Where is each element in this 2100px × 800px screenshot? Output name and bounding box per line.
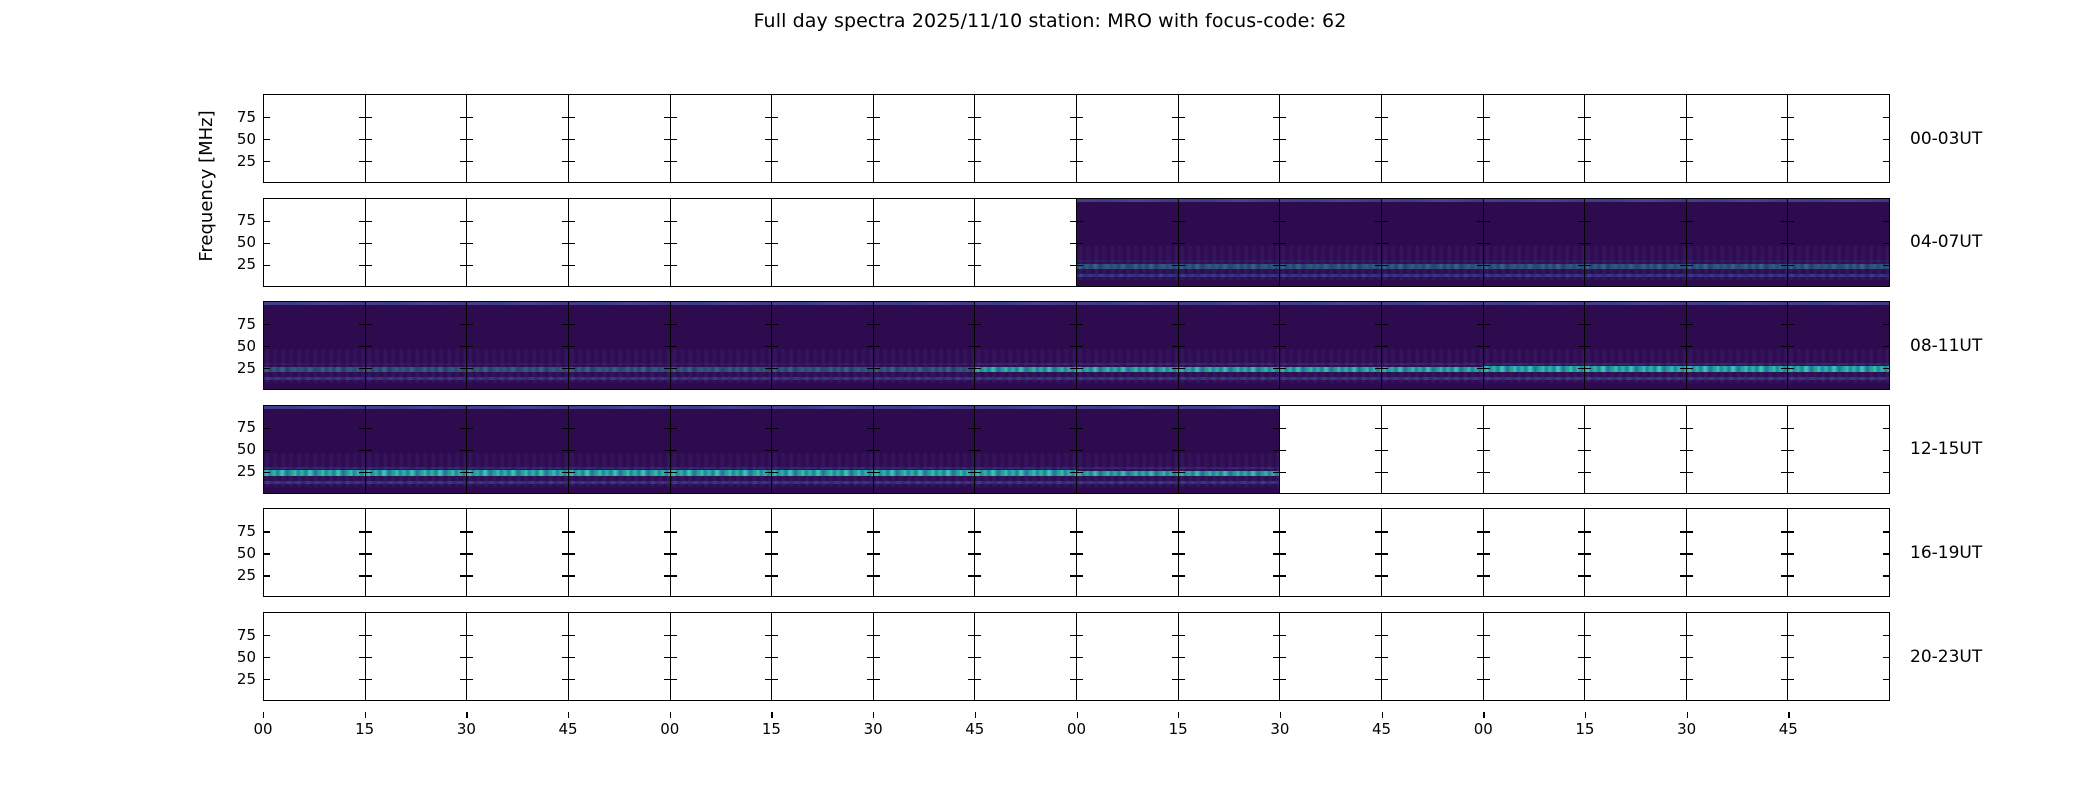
spectrogram-panel[interactable] [1381,612,1483,701]
y-tick-mark [1578,221,1584,222]
y-tick-mark [359,324,365,325]
spectrogram-panel[interactable] [873,612,975,701]
spectral-streak [1788,264,1889,269]
y-tick-mark [1382,635,1388,636]
y-tick-mark [1172,531,1178,532]
y-tick-mark [1788,553,1794,554]
y-tick-mark [1585,139,1591,140]
spectrogram-panel[interactable] [974,405,1076,494]
spectrogram-panel[interactable] [1178,508,1280,597]
spectral-streak [264,481,365,484]
spectral-streak [1788,366,1889,372]
spectral-streak [772,377,873,380]
spectrogram-panel[interactable] [771,508,873,597]
spectrogram-panel[interactable] [670,94,772,183]
y-tick-mark [1375,450,1381,451]
y-tick-mark [562,368,568,369]
spectrogram-panel[interactable] [1686,301,1788,390]
y-tick-mark [562,324,568,325]
spectral-streak [1179,481,1280,484]
y-tick-mark [1788,161,1794,162]
y-tick-mark [1781,575,1787,576]
y-tick-mark [562,575,568,576]
spectrogram-panel[interactable] [466,198,568,287]
spectral-streak [874,367,975,372]
spectral-streak [772,481,873,484]
y-tick-mark [867,265,873,266]
y-tick-mark [264,472,270,473]
spectrogram-panel[interactable] [466,405,568,494]
row-label-00-03: 00-03UT [1910,129,1982,149]
spectrogram-panel[interactable] [1483,508,1585,597]
spectrogram-panel[interactable] [873,198,975,287]
spectral-streak [264,363,365,365]
y-tick-mark [1382,679,1388,680]
y-tick-mark [467,450,473,451]
y-tick-mark [1578,553,1584,554]
y-tick-mark [1585,368,1591,369]
spectrogram-panel[interactable] [1584,198,1686,287]
spectral-streak [1280,264,1381,269]
y-tick-mark [359,117,365,118]
spectral-streak [772,470,873,476]
spectral-streak [1382,367,1483,372]
spectrogram-panel[interactable] [974,94,1076,183]
spectrogram-panel[interactable] [771,301,873,390]
spectrogram-panel[interactable] [568,198,670,287]
y-tick-mark [968,346,974,347]
spectrogram-panel[interactable] [263,405,365,494]
y-tick-mark [772,221,778,222]
spectrogram-panel[interactable] [466,94,568,183]
y-tick-mark [1687,428,1693,429]
spectral-streak [1280,367,1381,372]
y-tick-mark [569,243,575,244]
y-tick-mark [1477,472,1483,473]
spectrogram-panel[interactable] [670,301,772,390]
spectral-streak [1585,366,1686,372]
spectrogram-panel[interactable] [1787,612,1890,701]
spectrogram-panel[interactable] [1584,612,1686,701]
y-tick-mark [772,553,778,554]
x-tick-label: 00 [660,720,679,738]
y-tick-mark [1578,346,1584,347]
y-tick-mark [975,368,981,369]
spectrogram-panel[interactable] [1076,94,1178,183]
spectrogram-panel[interactable] [670,405,772,494]
y-tick-mark [460,346,466,347]
spectrogram-panel[interactable] [1787,405,1890,494]
spectrogram-panel[interactable] [1381,301,1483,390]
y-tick-mark [765,635,771,636]
spectrogram-panel[interactable] [1686,94,1788,183]
spectral-streak [671,377,772,380]
y-tick-mark [467,575,473,576]
y-tick-mark [569,553,575,554]
y-tick-mark [664,117,670,118]
y-tick-mark [1172,221,1178,222]
y-tick-mark [1680,472,1686,473]
spectrogram-panel[interactable] [1483,405,1585,494]
y-tick-mark [1484,324,1490,325]
y-tick-mark [874,139,880,140]
y-tick-mark [1382,368,1388,369]
y-tick-mark [975,243,981,244]
spectrogram-panel[interactable] [771,94,873,183]
y-tick-mark [1477,679,1483,680]
y-tick-mark [772,635,778,636]
spectrogram-panel[interactable] [466,301,568,390]
spectrogram-panel[interactable] [1279,94,1381,183]
y-tick-label: 25 [237,359,256,377]
spectral-streak [1077,363,1178,365]
spectrogram-panel[interactable] [1381,94,1483,183]
y-tick-mark [1070,575,1076,576]
y-tick-mark [460,117,466,118]
spectral-streak [1484,264,1585,269]
y-tick-label: 75 [237,108,256,126]
spectral-streak [569,481,670,484]
y-tick-mark [569,635,575,636]
y-tick-mark [968,428,974,429]
y-tick-mark [1077,635,1083,636]
y-tick-mark [1883,679,1889,680]
spectrogram-panel[interactable] [568,405,670,494]
spectrogram-panel[interactable] [1381,508,1483,597]
y-tick-mark [1578,472,1584,473]
y-tick-mark [664,324,670,325]
spectrogram-panel[interactable] [1178,301,1280,390]
y-tick-mark [467,635,473,636]
spectrogram-panel[interactable] [365,94,467,183]
spectrogram-panel[interactable] [568,508,670,597]
spectrogram-panel[interactable] [670,508,772,597]
row-label-20-23: 20-23UT [1910,647,1982,667]
y-tick-mark [1477,161,1483,162]
y-tick-label: 75 [237,211,256,229]
spectrogram-panel[interactable] [466,508,568,597]
spectrogram-panel[interactable] [1178,612,1280,701]
y-tick-mark [1781,221,1787,222]
y-tick-mark [366,428,372,429]
y-tick-mark [264,161,270,162]
y-tick-mark [772,450,778,451]
y-tick-mark [874,221,880,222]
y-tick-mark [975,117,981,118]
y-tick-mark [874,635,880,636]
y-tick-mark [975,531,981,532]
spectral-streak [467,363,568,365]
y-tick-mark [1585,324,1591,325]
spectrogram-panel[interactable] [365,405,467,494]
y-tick-mark [1280,161,1286,162]
spectrogram-panel[interactable] [1787,508,1890,597]
spectral-streak [1382,363,1483,365]
y-tick-mark [1179,635,1185,636]
spectrogram-panel[interactable] [263,94,365,183]
spectral-streak [264,377,365,380]
spectrogram-panel[interactable] [1584,94,1686,183]
y-tick-mark [968,161,974,162]
spectral-streak [1179,367,1280,372]
y-tick-mark [664,221,670,222]
spectrogram-panel[interactable] [1076,301,1178,390]
spectrogram-panel[interactable] [1584,301,1686,390]
y-tick-mark [1273,531,1279,532]
y-tick-mark [1179,657,1185,658]
y-tick-mark [1680,346,1686,347]
spectral-streak [1788,363,1889,365]
y-tick-mark [671,117,677,118]
spectrogram-panel[interactable] [1178,94,1280,183]
spectrogram-panel[interactable] [1787,198,1890,287]
spectrogram-panel[interactable] [1178,405,1280,494]
spectrogram-panel[interactable] [263,301,365,390]
spectrogram-panel[interactable] [1584,405,1686,494]
spectrogram-panel[interactable] [466,612,568,701]
y-tick-mark [1375,657,1381,658]
spectrogram-row-12-15 [263,405,1890,494]
y-tick-mark [1375,635,1381,636]
y-tick-mark [1578,161,1584,162]
y-tick-mark [1781,265,1787,266]
y-tick-mark [1781,324,1787,325]
y-tick-mark [867,368,873,369]
spectrogram-panel[interactable] [974,612,1076,701]
y-tick-mark [772,472,778,473]
y-tick-mark [975,265,981,266]
spectrogram-panel[interactable] [1686,612,1788,701]
y-tick-mark [467,221,473,222]
spectrogram-panel[interactable] [771,405,873,494]
y-tick-mark [562,635,568,636]
spectrogram-panel[interactable] [568,612,670,701]
spectral-streak [975,481,1076,484]
spectrogram-panel[interactable] [1279,198,1381,287]
spectrogram-panel[interactable] [1076,612,1178,701]
y-tick-mark [460,221,466,222]
y-tick-mark [671,657,677,658]
spectrogram-panel[interactable] [670,612,772,701]
y-tick-mark [1280,139,1286,140]
spectral-streak [1280,260,1381,262]
spectral-streak [569,470,670,476]
spectrogram-panel[interactable] [1381,198,1483,287]
y-tick-mark [1070,450,1076,451]
y-tick-mark [1788,117,1794,118]
spectral-streak [772,467,873,469]
spectrogram-panel[interactable] [263,612,365,701]
x-tick-label: 15 [1169,720,1188,738]
y-tick-mark [1687,221,1693,222]
spectrogram-panel[interactable] [974,508,1076,597]
y-tick-mark [1680,635,1686,636]
y-tick-mark [1382,450,1388,451]
y-tick-mark [765,346,771,347]
spectrogram-panel[interactable] [1483,94,1585,183]
y-tick-mark [1788,679,1794,680]
y-tick-mark [359,553,365,554]
spectrogram-panel[interactable] [1279,301,1381,390]
spectrogram-panel[interactable] [670,198,772,287]
spectrogram-panel[interactable] [1787,301,1890,390]
y-tick-mark [968,265,974,266]
spectrogram-panel[interactable] [771,612,873,701]
y-tick-mark [366,161,372,162]
spectrogram-panel[interactable] [873,508,975,597]
y-tick-mark [1578,243,1584,244]
x-tick-label: 45 [559,720,578,738]
spectral-streak [1077,367,1178,372]
y-tick-mark [467,161,473,162]
y-tick-mark [1484,161,1490,162]
y-tick-mark [1172,450,1178,451]
y-tick-mark [1687,368,1693,369]
spectrogram-panel[interactable] [1381,405,1483,494]
y-tick-mark [1788,265,1794,266]
spectrogram-panel[interactable] [873,94,975,183]
y-tick-mark [765,265,771,266]
y-tick-mark [1484,635,1490,636]
y-tick-mark [1179,346,1185,347]
y-tick-mark [1477,428,1483,429]
spectrogram-panel[interactable] [1483,612,1585,701]
spectrogram-row-08-11 [263,301,1890,390]
y-tick-mark [569,368,575,369]
y-tick-mark [1484,243,1490,244]
spectrogram-panel[interactable] [1076,405,1178,494]
spectrogram-panel[interactable] [1686,508,1788,597]
y-tick-mark [1883,265,1889,266]
y-tick-mark [1172,428,1178,429]
y-tick-mark [968,531,974,532]
spectrogram-panel[interactable] [1584,508,1686,597]
spectral-streak [264,470,365,476]
spectrogram-panel[interactable] [1279,508,1381,597]
y-tick-mark [1788,575,1794,576]
y-tick-mark [1273,139,1279,140]
spectrogram-panel[interactable] [365,508,467,597]
spectrogram-panel[interactable] [263,198,365,287]
spectrogram-panel[interactable] [974,301,1076,390]
y-tick-mark [1273,368,1279,369]
y-tick-mark [867,472,873,473]
y-tick-mark [1788,324,1794,325]
spectrogram-panel[interactable] [1076,508,1178,597]
spectrogram-panel[interactable] [1483,198,1585,287]
y-tick-mark [1375,265,1381,266]
spectrogram-panel[interactable] [365,301,467,390]
x-tick-mark [1382,712,1383,718]
spectrogram-panel[interactable] [771,198,873,287]
y-tick-mark [1680,428,1686,429]
spectral-streak [264,467,365,469]
y-tick-mark [1781,553,1787,554]
spectrogram-panel[interactable] [1483,301,1585,390]
spectrogram-panel[interactable] [873,405,975,494]
y-tick-mark [1687,553,1693,554]
y-tick-mark [664,368,670,369]
y-tick-mark [772,575,778,576]
y-tick-mark [867,635,873,636]
spectrogram-panel[interactable] [1076,198,1178,287]
y-tick-mark [968,243,974,244]
y-tick-mark [1179,243,1185,244]
y-tick-mark [1273,265,1279,266]
y-tick-label: 50 [237,337,256,355]
spectrogram-panel[interactable] [263,508,365,597]
y-tick-mark [671,139,677,140]
y-tick-mark [569,161,575,162]
x-tick-mark [771,712,772,718]
y-tick-mark [671,324,677,325]
y-tick-mark [569,472,575,473]
spectral-streak [1484,260,1585,262]
x-tick-mark [1687,712,1688,718]
spectrogram-panel[interactable] [873,301,975,390]
spectrogram-panel[interactable] [1178,198,1280,287]
y-tick-mark [1484,428,1490,429]
spectrogram-panel[interactable] [568,301,670,390]
y-tick-mark [1484,472,1490,473]
y-tick-mark [664,450,670,451]
spectrogram-panel[interactable] [1686,405,1788,494]
spectrogram-panel[interactable] [365,612,467,701]
y-tick-mark [1687,472,1693,473]
y-tick-mark [1179,324,1185,325]
y-tick-mark [975,679,981,680]
y-tick-mark [1172,635,1178,636]
y-tick-labels: 755025 [200,301,256,390]
y-tick-mark [1382,531,1388,532]
y-tick-mark [1077,117,1083,118]
spectral-streak [1788,260,1889,262]
y-tick-mark [1687,679,1693,680]
y-tick-mark [664,635,670,636]
y-tick-mark [359,346,365,347]
spectral-streak [467,467,568,469]
y-tick-mark [1680,553,1686,554]
y-tick-mark [366,450,372,451]
y-tick-mark [1788,221,1794,222]
y-tick-mark [1077,221,1083,222]
y-tick-mark [1273,221,1279,222]
y-tick-mark [460,265,466,266]
y-tick-mark [671,575,677,576]
y-tick-mark [1477,368,1483,369]
spectrogram-panel[interactable] [568,94,670,183]
spectrogram-panel[interactable] [1279,612,1381,701]
x-tick-mark [1788,712,1789,718]
plot-grid [263,94,1890,712]
spectrogram-panel[interactable] [1279,405,1381,494]
y-tick-labels: 755025 [200,508,256,597]
y-tick-mark [975,324,981,325]
y-tick-mark [1179,161,1185,162]
spectrogram-panel[interactable] [974,198,1076,287]
y-tick-mark [1883,428,1889,429]
spectrogram-panel[interactable] [365,198,467,287]
y-tick-mark [968,635,974,636]
y-tick-mark [867,657,873,658]
x-tick-mark [1483,712,1484,718]
spectrogram-panel[interactable] [1787,94,1890,183]
spectrogram-panel[interactable] [1686,198,1788,287]
spectral-streak [874,481,975,484]
y-tick-mark [772,265,778,266]
y-tick-mark [765,450,771,451]
y-tick-mark [664,472,670,473]
